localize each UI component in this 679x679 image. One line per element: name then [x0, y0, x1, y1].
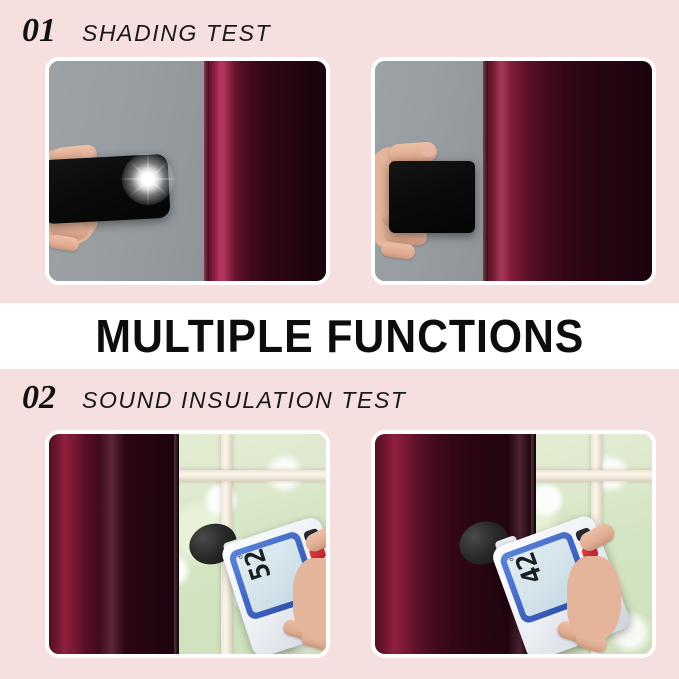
hand [293, 558, 326, 638]
sound-level-meter: 42.5 dB Sound Level Meter [467, 522, 617, 654]
window-mullion-horizontal [167, 470, 326, 481]
meter-reading-value: 52.9 [235, 537, 278, 583]
photo-panel-sound-behind-curtain: 42.5 dB Sound Level Meter [371, 430, 656, 658]
photo-panel-shading-light-blocked [371, 57, 656, 285]
infographic-page: 01 SHADING TEST [0, 0, 679, 679]
curtain-edge [483, 61, 488, 281]
photo-panel-sound-open-window: 52.9 dB Sound Level Meter [45, 430, 330, 658]
panel-image-sound-open-window: 52.9 dB Sound Level Meter [49, 434, 326, 654]
section-number-01: 01 [22, 12, 56, 50]
section-number-02: 02 [22, 379, 56, 417]
main-title-banner: MULTIPLE FUNCTIONS [0, 303, 679, 369]
main-title-text: MULTIPLE FUNCTIONS [95, 309, 584, 363]
photo-panel-shading-light-on [45, 57, 330, 285]
panel-image-sound-behind-curtain: 42.5 dB Sound Level Meter [375, 434, 652, 654]
curtain-edge [204, 61, 209, 281]
curtain-edge [174, 434, 179, 654]
panel-image-shading-light-blocked [375, 61, 652, 281]
section-label-02: SOUND INSULATION TEST [82, 387, 407, 414]
curtain-highlight-fold [212, 61, 234, 281]
curtain-highlight-fold [491, 61, 511, 281]
section-heading-02: 02 SOUND INSULATION TEST [22, 379, 407, 417]
sound-level-meter: 52.9 dB Sound Level Meter [197, 522, 326, 652]
smartphone [389, 161, 475, 233]
fingernail [421, 146, 435, 157]
meter-reading-value: 42.5 [506, 537, 550, 588]
curtain-highlight-fold [99, 434, 125, 654]
section-label-01: SHADING TEST [82, 20, 271, 47]
panel-image-shading-light-on [49, 61, 326, 281]
hand [567, 556, 621, 640]
section-heading-01: 01 SHADING TEST [22, 12, 271, 50]
window-mullion-horizontal [535, 470, 652, 481]
